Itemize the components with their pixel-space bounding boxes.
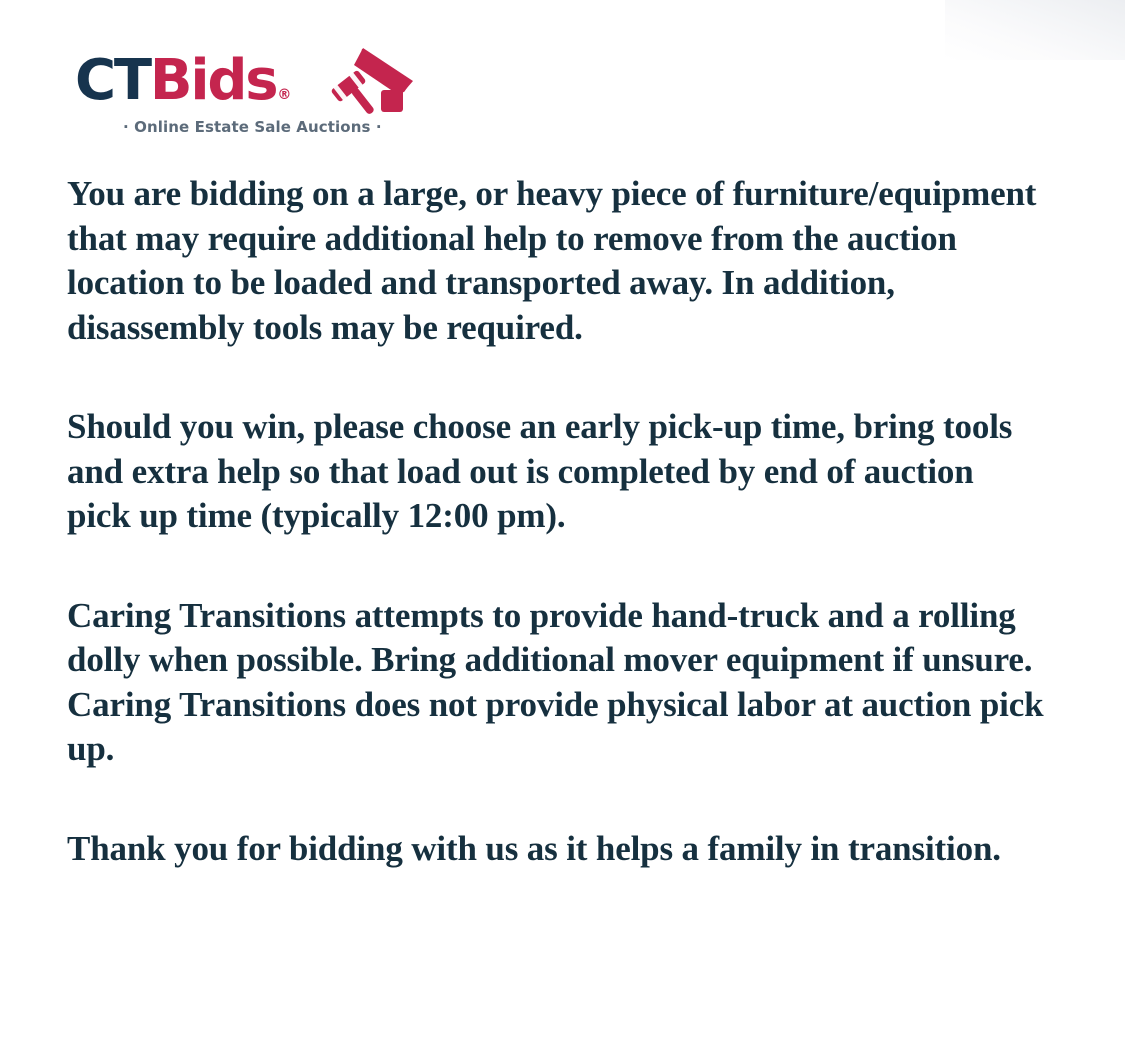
logo-text-ct: CT	[75, 52, 150, 110]
notice-paragraph-4: Thank you for bidding with us as it help…	[67, 827, 1072, 872]
notice-paragraph-1: You are bidding on a large, or heavy pie…	[67, 172, 1067, 350]
logo-tagline: · Online Estate Sale Auctions ·	[123, 118, 382, 136]
ctbids-logo[interactable]: CT Bids ® · Online Estate Sale Auctions …	[75, 52, 415, 144]
corner-shade-decoration	[945, 0, 1125, 60]
registered-trademark-icon: ®	[276, 88, 291, 110]
logo-text-bids: Bids	[150, 52, 277, 110]
notice-paragraph-2: Should you win, please choose an early p…	[67, 405, 1027, 539]
notice-page: CT Bids ® · Online Estate Sale Auctions …	[0, 0, 1125, 1064]
house-roof-gavel-icon	[318, 46, 414, 120]
notice-paragraph-3: Caring Transitions attempts to provide h…	[67, 594, 1072, 772]
notice-body: You are bidding on a large, or heavy pie…	[67, 172, 1072, 871]
